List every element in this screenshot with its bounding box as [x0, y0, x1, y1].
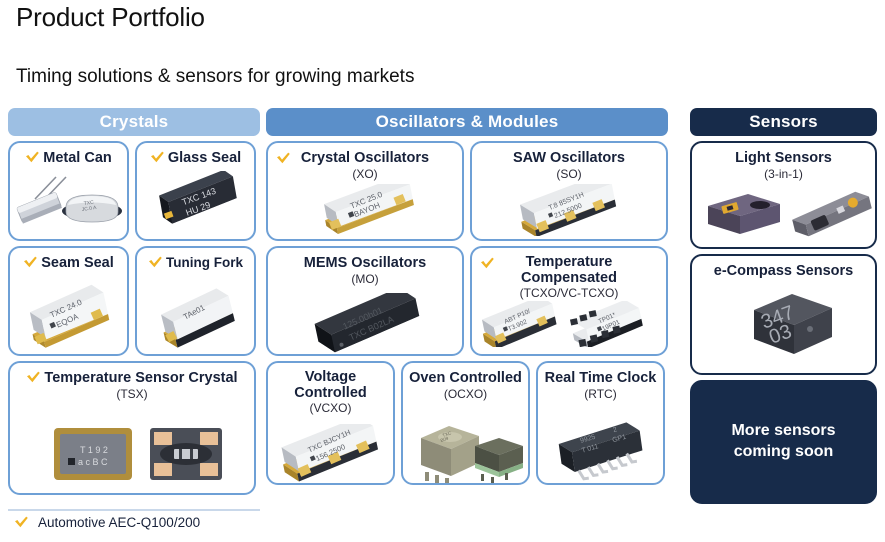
- card-subtitle: (3-in-1): [696, 168, 871, 182]
- product-image-seam-seal: TXC 24.0 EQOA: [10, 272, 127, 354]
- product-image-ocxo: TXC B09: [403, 402, 528, 483]
- check-icon: [26, 370, 41, 384]
- card-temperature-sensor-crystal[interactable]: Temperature Sensor Crystal (TSX) T 1 9 2…: [8, 361, 256, 495]
- column-crystals: Crystals Metal Can: [8, 108, 260, 495]
- card-subtitle: (XO): [272, 168, 458, 182]
- more-sensors-line1: More sensors: [731, 421, 835, 442]
- product-image-glass-seal: TXC 143 HU 29: [137, 167, 254, 239]
- column-header-sensors: Sensors: [690, 108, 877, 136]
- card-header: Light Sensors (3-in-1): [692, 143, 875, 182]
- column-sensors: Sensors Light Sensors (3-in-1): [690, 108, 877, 504]
- crystals-row-1: Metal Can: [8, 141, 260, 241]
- product-image-so: T.8 85SY1H 212.5000: [472, 182, 666, 239]
- card-subtitle: (VCXO): [272, 402, 389, 416]
- card-subtitle: (RTC): [542, 388, 659, 402]
- card-subtitle: (MO): [272, 273, 458, 287]
- card-mems-oscillators[interactable]: MEMS Oscillators (MO) 125.00h01 TXC B02L…: [266, 246, 464, 356]
- card-metal-can[interactable]: Metal Can: [8, 141, 129, 241]
- card-title: Temperature Compensated: [476, 254, 662, 286]
- crystals-row-2: Seam Seal TXC 24.0: [8, 246, 260, 356]
- card-header: Tuning Fork: [137, 248, 254, 272]
- column-header-oscillators: Oscillators & Modules: [266, 108, 668, 136]
- card-glass-seal[interactable]: Glass Seal TXC 143 HU 29: [135, 141, 256, 241]
- card-title: Metal Can: [43, 150, 112, 166]
- card-subtitle: (SO): [476, 168, 662, 182]
- sensors-row-2: e-Compass Sensors 347 03: [690, 254, 877, 375]
- sensors-row-3: More sensors coming soon: [690, 380, 877, 504]
- card-header: Oven Controlled (OCXO): [403, 363, 528, 402]
- svg-text:a c B C: a c B C: [78, 457, 108, 467]
- card-title: Real Time Clock: [545, 370, 657, 386]
- card-title: SAW Oscillators: [513, 150, 625, 166]
- card-saw-oscillators[interactable]: SAW Oscillators (SO): [470, 141, 668, 241]
- card-header: Temperature Sensor Crystal (TSX): [10, 363, 254, 402]
- card-title: MEMS Oscillators: [304, 255, 426, 271]
- card-oven-controlled[interactable]: Oven Controlled (OCXO) TXC B09: [401, 361, 530, 485]
- card-title: Tuning Fork: [166, 255, 243, 270]
- card-ecompass-sensors[interactable]: e-Compass Sensors 347 03: [690, 254, 877, 375]
- card-header: Glass Seal: [137, 143, 254, 167]
- legend: Automotive AEC-Q100/200: [14, 515, 200, 530]
- oscillators-row-3: Voltage Controlled (VCXO): [266, 361, 668, 485]
- card-title: Voltage Controlled: [272, 369, 389, 401]
- card-subtitle: (TSX): [14, 388, 250, 402]
- check-icon: [148, 255, 163, 269]
- card-temperature-compensated[interactable]: Temperature Compensated (TCXO/VC-TCXO): [470, 246, 668, 356]
- legend-label: Automotive AEC-Q100/200: [38, 515, 200, 530]
- card-voltage-controlled[interactable]: Voltage Controlled (VCXO): [266, 361, 395, 485]
- card-crystal-oscillators[interactable]: Crystal Oscillators (XO): [266, 141, 464, 241]
- product-image-xo: TXC 25.0 BAYOH: [268, 182, 462, 239]
- card-title: Crystal Oscillators: [301, 150, 429, 166]
- card-header: SAW Oscillators (SO): [472, 143, 666, 182]
- card-header: MEMS Oscillators (MO): [268, 248, 462, 287]
- product-image-ecompass: 347 03: [692, 280, 875, 373]
- card-header: Voltage Controlled (VCXO): [268, 363, 393, 416]
- more-sensors-text: More sensors coming soon: [731, 421, 835, 463]
- card-title: Oven Controlled: [409, 370, 522, 386]
- crystals-row-3: Temperature Sensor Crystal (TSX) T 1 9 2…: [8, 361, 260, 495]
- product-image-rtc: 9925 2 T 011 GP1: [538, 402, 663, 483]
- card-title: Glass Seal: [168, 150, 241, 166]
- more-sensors-line2: coming soon: [731, 442, 835, 463]
- card-header: Real Time Clock (RTC): [538, 363, 663, 402]
- product-image-light-sensors: [692, 182, 875, 247]
- card-header: e-Compass Sensors: [692, 256, 875, 280]
- product-image-tsx: T 1 9 2 a c B C: [10, 402, 254, 493]
- card-real-time-clock[interactable]: Real Time Clock (RTC) 9925 2 T 011 GP1: [536, 361, 665, 485]
- card-seam-seal[interactable]: Seam Seal TXC 24.0: [8, 246, 129, 356]
- card-title: Light Sensors: [735, 150, 832, 166]
- card-tuning-fork[interactable]: Tuning Fork TAe01: [135, 246, 256, 356]
- product-image-tuning-fork: TAe01: [137, 272, 254, 354]
- card-title: Seam Seal: [41, 255, 114, 271]
- page-title: Product Portfolio: [16, 2, 205, 33]
- card-header: Metal Can: [10, 143, 127, 167]
- card-subtitle: (TCXO/VC-TCXO): [476, 287, 662, 301]
- product-portfolio-page: Product Portfolio Timing solutions & sen…: [0, 0, 885, 542]
- oscillators-row-1: Crystal Oscillators (XO): [266, 141, 668, 241]
- check-icon: [14, 515, 29, 529]
- check-icon: [150, 150, 165, 164]
- column-oscillators: Oscillators & Modules Crystal Oscillator…: [266, 108, 668, 485]
- svg-text:T 1 9 2: T 1 9 2: [80, 445, 108, 455]
- sensors-row-1: Light Sensors (3-in-1): [690, 141, 877, 249]
- card-subtitle: (OCXO): [407, 388, 524, 402]
- card-header: Seam Seal: [10, 248, 127, 272]
- oscillators-row-2: MEMS Oscillators (MO) 125.00h01 TXC B02L…: [266, 246, 668, 356]
- card-title: e-Compass Sensors: [714, 263, 853, 279]
- product-image-mo: 125.00h01 TXC B02LA: [268, 287, 462, 354]
- card-header: Crystal Oscillators (XO): [268, 143, 462, 182]
- card-header: Temperature Compensated (TCXO/VC-TCXO): [472, 248, 666, 301]
- page-subtitle: Timing solutions & sensors for growing m…: [16, 66, 414, 88]
- product-image-vcxo: TXC BJCY1H 156.2500: [268, 416, 393, 483]
- product-image-metal-can: TXC JC.0 A: [10, 167, 127, 239]
- check-icon: [25, 150, 40, 164]
- card-more-sensors[interactable]: More sensors coming soon: [690, 380, 877, 504]
- card-light-sensors[interactable]: Light Sensors (3-in-1): [690, 141, 877, 249]
- check-icon: [23, 255, 38, 269]
- card-title: Temperature Sensor Crystal: [44, 370, 237, 386]
- product-image-tcxo: ABT P10/ T3.902: [472, 301, 666, 354]
- column-header-crystals: Crystals: [8, 108, 260, 136]
- crystals-bottom-rule: [8, 509, 260, 511]
